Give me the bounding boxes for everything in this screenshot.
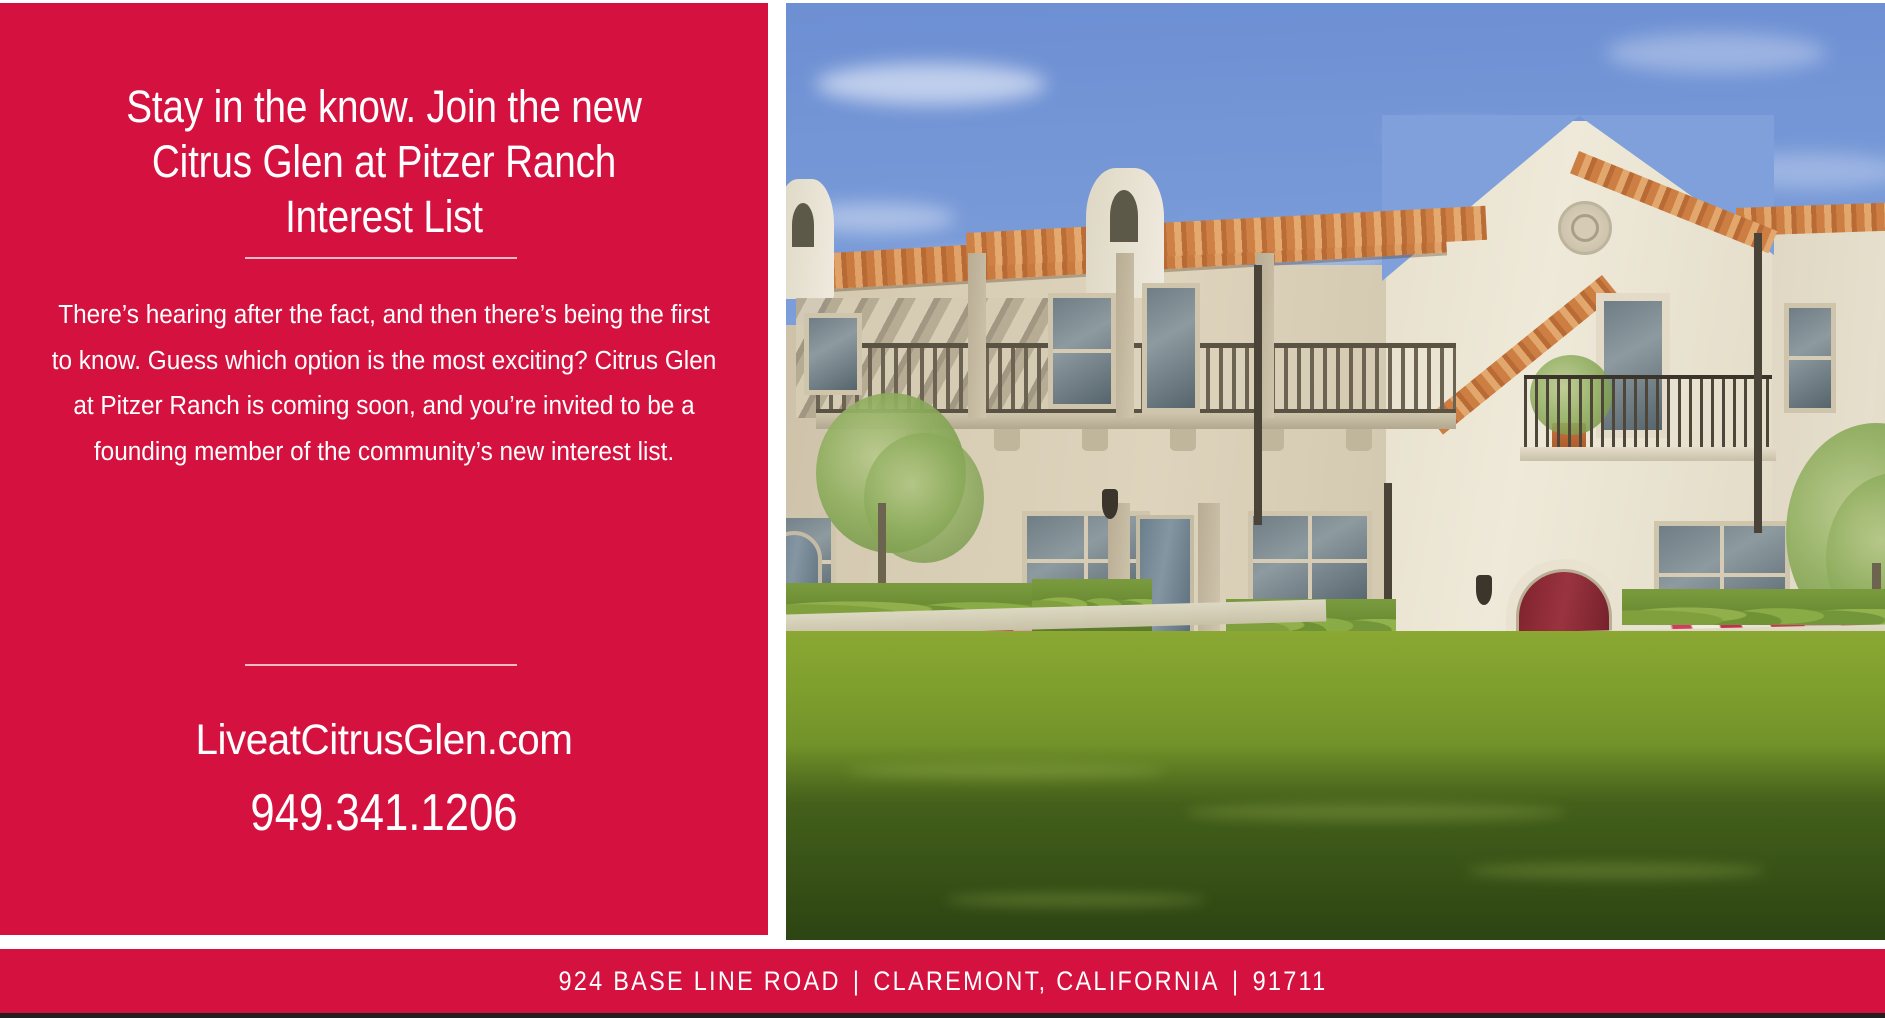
porch-post [1116, 253, 1134, 418]
downspout [1754, 233, 1762, 533]
footer-street: 924 BASE LINE ROAD [558, 966, 840, 996]
lawn-highlight [846, 763, 1166, 779]
window-mullion [1659, 573, 1785, 577]
gable-sky-wedge-left [1382, 115, 1580, 281]
window-upper [1784, 303, 1836, 413]
corbel [1170, 429, 1196, 451]
wall-sconce [1102, 489, 1118, 519]
footer-address-line: 924 BASE LINE ROAD|CLAREMONT, CALIFORNIA… [558, 966, 1327, 997]
cloud [816, 63, 1046, 105]
downspout [1254, 265, 1262, 525]
window-upper [1142, 283, 1200, 413]
corbel [1346, 429, 1372, 451]
window-mullion [1053, 349, 1111, 353]
chimney [786, 179, 834, 299]
body-copy: There’s hearing after the fact, and then… [50, 293, 719, 475]
lawn-highlight [946, 893, 1206, 907]
cloud [1606, 33, 1826, 73]
advertisement-card: Stay in the know. Join the new Citrus Gl… [0, 0, 1885, 1018]
bottom-rule [0, 1013, 1885, 1018]
gable-vent-medallion [1558, 201, 1612, 255]
corbel [994, 429, 1020, 451]
website-link[interactable]: LiveatCitrusGlen.com [55, 715, 713, 765]
window-upper [804, 313, 862, 395]
divider-top [245, 257, 517, 259]
lawn-highlight [1466, 863, 1766, 879]
page-title: Stay in the know. Join the new Citrus Gl… [83, 79, 685, 244]
footer-city-state: CLAREMONT, CALIFORNIA [873, 966, 1219, 996]
corbel [1082, 429, 1108, 451]
chimney-vent [1110, 190, 1138, 242]
chimney-vent [792, 203, 814, 247]
footer-zip: 91711 [1252, 966, 1327, 996]
window-mullion [1789, 356, 1831, 360]
porch-post [968, 253, 986, 418]
window-ground [1248, 511, 1372, 611]
left-red-panel: Stay in the know. Join the new Citrus Gl… [0, 3, 768, 935]
footer-separator: | [840, 966, 873, 997]
window-mullion [1253, 559, 1367, 563]
window-upper [1048, 293, 1116, 409]
phone-number[interactable]: 949.341.1206 [90, 783, 678, 843]
property-rendering-image [786, 3, 1885, 940]
footer-separator: | [1219, 966, 1252, 997]
divider-bottom [245, 664, 517, 666]
footer-address-bar: 924 BASE LINE ROAD|CLAREMONT, CALIFORNIA… [0, 949, 1885, 1013]
lawn-highlight [1186, 803, 1566, 821]
wall-sconce [1476, 575, 1492, 605]
balcony-slab [1520, 447, 1776, 461]
balcony-railing-wrought-iron [1524, 375, 1772, 454]
